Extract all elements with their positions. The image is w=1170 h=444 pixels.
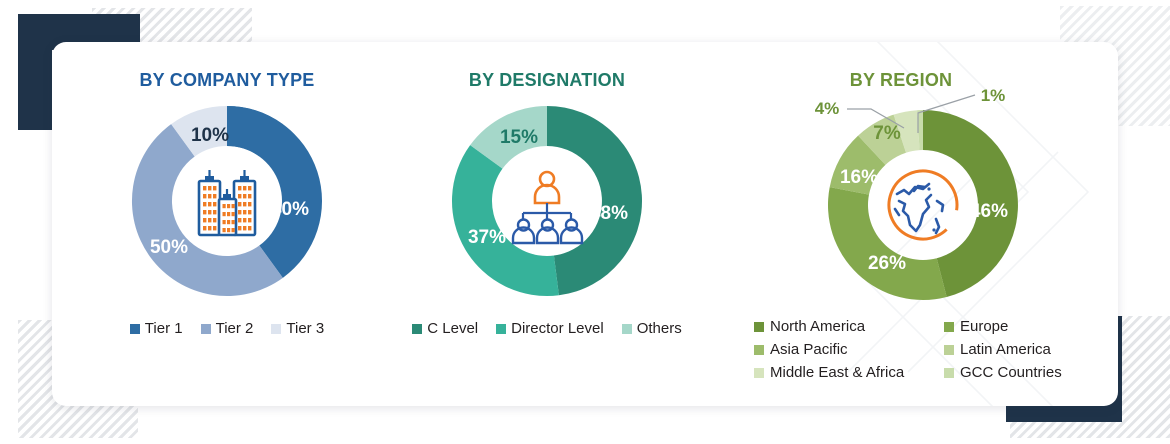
chart-title-company-type: BY COMPANY TYPE: [62, 70, 392, 91]
legend-item-tier-1[interactable]: Tier 1: [130, 320, 183, 337]
legend-label-director-level: Director Level: [511, 320, 604, 337]
value-label-tier-1: 40%: [271, 199, 309, 220]
value-label-north-america: 46%: [970, 201, 1008, 222]
org-chart-people-icon: [513, 172, 582, 243]
value-label-c-level: 48%: [590, 203, 628, 224]
legend-label-tier-1: Tier 1: [145, 320, 183, 337]
legend-swatch-director-level: [496, 324, 506, 334]
legend-label-tier-3: Tier 3: [286, 320, 324, 337]
donut-region: 46% 26% 16% 7% 4% 1%: [732, 87, 1118, 312]
legend-swatch-tier-1: [130, 324, 140, 334]
infographic-card: BY COMPANY TYPE 40% 50% 10%: [52, 42, 1118, 406]
chart-panel-region: BY REGION: [732, 42, 1118, 406]
legend-swatch-tier-2: [201, 324, 211, 334]
legend-label-others: Others: [637, 320, 682, 337]
legend-item-north-america[interactable]: North America: [754, 318, 944, 335]
charts-container: BY COMPANY TYPE 40% 50% 10%: [52, 42, 1118, 406]
legend-swatch-middle-east-africa: [754, 368, 764, 378]
value-label-others: 15%: [500, 127, 538, 148]
legend-item-tier-3[interactable]: Tier 3: [271, 320, 324, 337]
legend-item-middle-east-africa[interactable]: Middle East & Africa: [754, 364, 944, 381]
legend-swatch-north-america: [754, 322, 764, 332]
chart-panel-designation: BY DESIGNATION 48% 37% 15%: [382, 42, 712, 406]
value-label-tier-2: 50%: [150, 237, 188, 258]
slice-c-level[interactable]: [547, 106, 642, 295]
legend-label-middle-east-africa: Middle East & Africa: [770, 364, 904, 381]
chart-panel-company-type: BY COMPANY TYPE 40% 50% 10%: [62, 42, 392, 406]
legend-item-tier-2[interactable]: Tier 2: [201, 320, 254, 337]
legend-label-europe: Europe: [960, 318, 1008, 335]
legend-designation: C Level Director Level Others: [382, 320, 712, 337]
value-label-tier-3: 10%: [191, 125, 229, 146]
legend-item-others[interactable]: Others: [622, 320, 682, 337]
value-label-gcc-countries: 1%: [981, 87, 1006, 105]
legend-label-c-level: C Level: [427, 320, 478, 337]
office-buildings-icon: [199, 170, 255, 235]
legend-item-asia-pacific[interactable]: Asia Pacific: [754, 341, 944, 358]
donut-company-type: 40% 50% 10%: [62, 101, 392, 306]
legend-swatch-others: [622, 324, 632, 334]
legend-swatch-europe: [944, 322, 954, 332]
legend-label-gcc-countries: GCC Countries: [960, 364, 1062, 381]
legend-item-europe[interactable]: Europe: [944, 318, 1114, 335]
legend-company-type: Tier 1 Tier 2 Tier 3: [62, 320, 392, 337]
value-label-latin-america: 7%: [873, 123, 901, 144]
legend-label-latin-america: Latin America: [960, 341, 1051, 358]
value-label-asia-pacific: 16%: [840, 167, 878, 188]
legend-swatch-latin-america: [944, 345, 954, 355]
legend-label-tier-2: Tier 2: [216, 320, 254, 337]
legend-item-director-level[interactable]: Director Level: [496, 320, 604, 337]
legend-region: North America Europe Asia Pacific Latin …: [754, 318, 1118, 381]
legend-swatch-c-level: [412, 324, 422, 334]
chart-title-designation: BY DESIGNATION: [382, 70, 712, 91]
legend-item-c-level[interactable]: C Level: [412, 320, 478, 337]
legend-swatch-tier-3: [271, 324, 281, 334]
legend-label-north-america: North America: [770, 318, 865, 335]
legend-item-latin-america[interactable]: Latin America: [944, 341, 1114, 358]
donut-designation: 48% 37% 15%: [382, 101, 712, 306]
legend-label-asia-pacific: Asia Pacific: [770, 341, 848, 358]
legend-swatch-gcc-countries: [944, 368, 954, 378]
globe-icon: [878, 160, 968, 250]
legend-item-gcc-countries[interactable]: GCC Countries: [944, 364, 1114, 381]
value-label-middle-east-africa: 4%: [815, 99, 840, 118]
value-label-director-level: 37%: [468, 227, 506, 248]
legend-swatch-asia-pacific: [754, 345, 764, 355]
value-label-europe: 26%: [868, 253, 906, 274]
